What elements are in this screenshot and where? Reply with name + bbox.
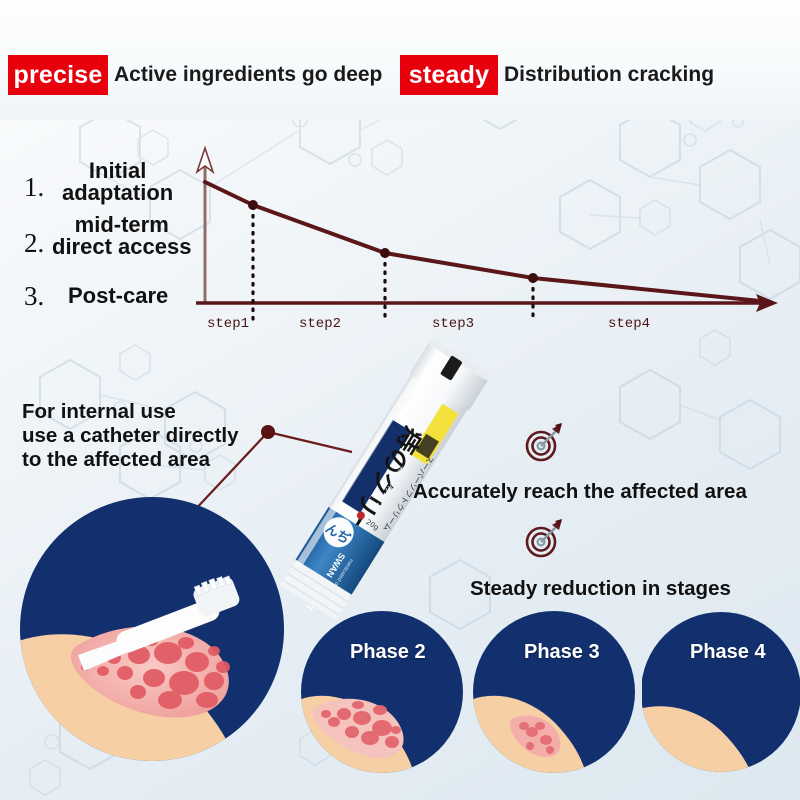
decline-chart: step1 step2 step3 step4 <box>0 140 800 340</box>
chart-series-line <box>205 182 770 302</box>
chart-x-axis <box>196 294 778 312</box>
header-text-precise: Active ingredients go deep <box>114 63 382 87</box>
target-arrow-icon <box>521 420 567 466</box>
feature-text-2: Steady reduction in stages <box>470 577 731 601</box>
badge-steady: steady <box>400 55 498 95</box>
phase-circle-4 <box>642 610 800 775</box>
chart-y-axis <box>197 148 213 303</box>
header-text-steady: Distribution cracking <box>504 63 714 87</box>
phase-label-3: Phase 3 <box>524 641 600 664</box>
chart-droplines <box>253 207 533 322</box>
infographic-canvas: precise Active ingredients go deep stead… <box>0 0 800 800</box>
feature-text-1: Accurately reach the affected area <box>413 480 747 504</box>
phase-label-4: Phase 4 <box>690 641 766 664</box>
chart-tick-step4: step4 <box>608 316 650 332</box>
badge-precise: precise <box>8 55 108 95</box>
callout-line-1: For internal use <box>22 400 239 424</box>
callout-line-2: use a catheter directly <box>22 424 239 448</box>
callout-internal-use: For internal use use a catheter directly… <box>22 400 239 471</box>
target-arrow-icon <box>521 516 567 562</box>
callout-line-3: to the affected area <box>22 448 239 472</box>
